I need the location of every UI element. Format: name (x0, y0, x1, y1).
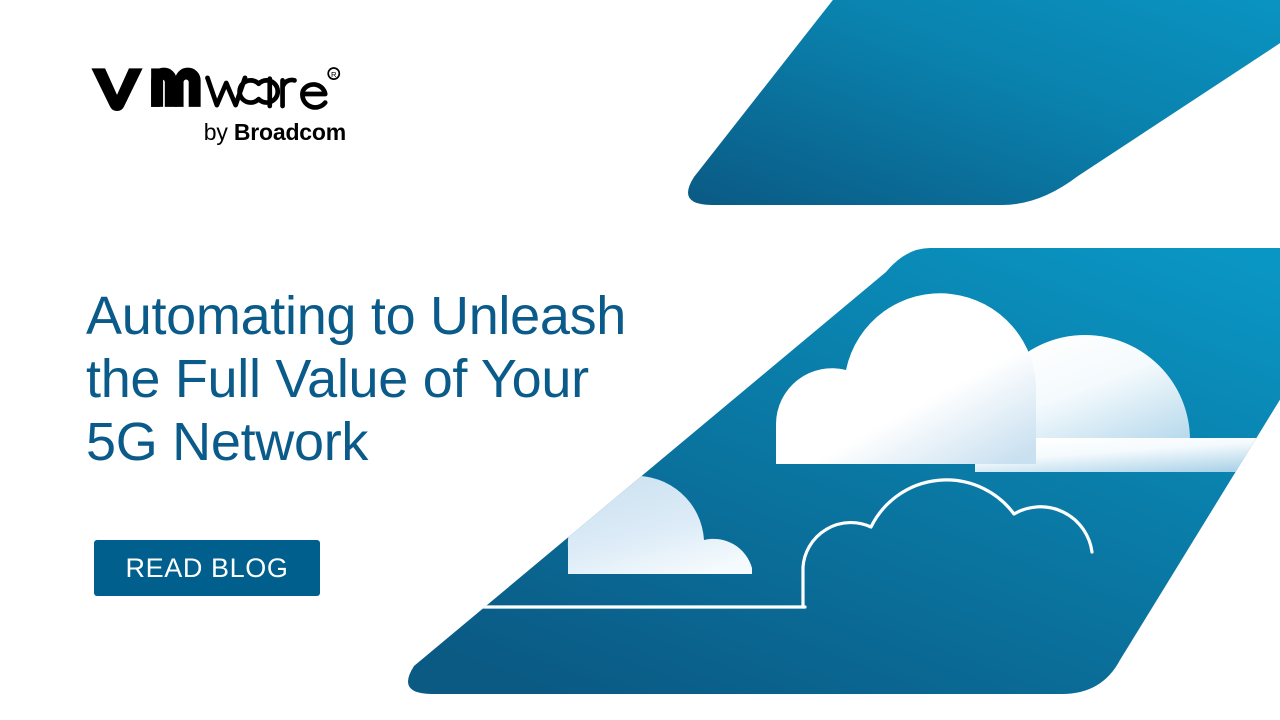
headline-line-2: the Full Value of Your (86, 348, 686, 411)
svg-text:R: R (331, 70, 337, 79)
read-blog-button[interactable]: READ BLOG (94, 540, 320, 596)
cloud-white-large (776, 293, 1036, 464)
tagline-prefix: by (204, 119, 228, 145)
slide-canvas: R by Broadcom Automating to Unleash the … (0, 0, 1280, 720)
tagline-brand-name: Broadcom (234, 119, 346, 145)
vmware-wordmark-logo: R (88, 58, 344, 113)
vmware-logo-block: R by Broadcom (88, 58, 348, 145)
top-parallelogram (688, 0, 1280, 205)
broadcom-tagline: by Broadcom (88, 119, 348, 145)
page-title: Automating to Unleash the Full Value of … (86, 285, 686, 474)
headline-line-1: Automating to Unleash (86, 285, 686, 348)
registered-mark-icon: R (328, 68, 339, 79)
headline-line-3: 5G Network (86, 411, 686, 474)
